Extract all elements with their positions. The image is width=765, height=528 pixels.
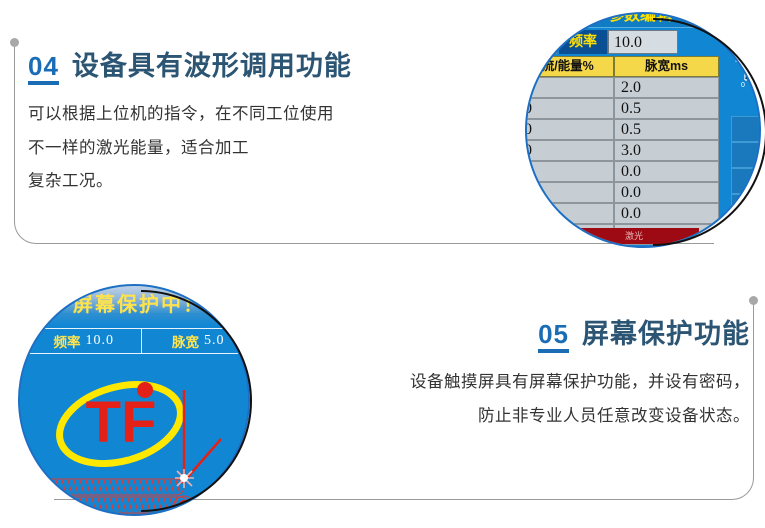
- laser-status-bar: 激光: [569, 228, 699, 244]
- cell-current[interactable]: 0: [527, 161, 614, 182]
- status-pulsewidth-value: 5.0: [204, 333, 225, 349]
- cell-current[interactable]: 30: [527, 119, 614, 140]
- status-frequency-value: 10.0: [86, 333, 115, 349]
- panel-1-heading: 04 设备具有波形调用功能: [28, 44, 458, 85]
- panel-1-body-line-3: 复杂工况。: [28, 171, 458, 192]
- cell-pulsewidth[interactable]: 3.0: [614, 140, 719, 161]
- waveform-ytick-100: 100: [731, 42, 743, 49]
- table-row[interactable]: 70 0.5: [527, 98, 719, 119]
- parameter-editor-title: 参数编辑: [577, 14, 703, 28]
- cell-pulsewidth[interactable]: 0.5: [614, 119, 719, 140]
- table-row[interactable]: 0.0: [527, 203, 719, 224]
- panel-1-bullet-dot: [10, 38, 19, 47]
- laser-beam-diagonal: [187, 439, 221, 478]
- panel-2-title: 屏幕保护功能: [582, 312, 750, 351]
- parameter-editor-screen: 参数编辑 频率 10.0 电流/能量% 脉宽ms 70 2.0: [527, 14, 759, 246]
- cell-pulsewidth[interactable]: 0.0: [614, 161, 719, 182]
- frequency-row: 频率 10.0: [527, 30, 719, 54]
- cell-current[interactable]: 0: [527, 182, 614, 203]
- screensaver-status-row: 频率 10.0 脉宽 5.0: [26, 328, 248, 354]
- panel-1-body-line-1: 可以根据上位机的指令，在不同工位使用: [28, 104, 458, 125]
- panel-2-number: 05: [538, 321, 569, 353]
- panel-1-body: 可以根据上位机的指令，在不同工位使用 不一样的激光能量，适合加工 复杂工况。: [28, 104, 458, 192]
- status-pulsewidth-label: 脉宽: [172, 331, 199, 351]
- waveform-ytick-0: 0: [741, 82, 745, 89]
- cell-pulsewidth[interactable]: 2.0: [614, 77, 719, 98]
- parameter-table: 电流/能量% 脉宽ms 70 2.0 70 0.5 30 0.5: [527, 56, 719, 245]
- coil-workpiece: [32, 479, 194, 514]
- numeric-keypad[interactable]: 1 4 7: [731, 116, 759, 220]
- table-row[interactable]: 30 0.5: [527, 119, 719, 140]
- panel-2-bullet-dot: [749, 296, 758, 305]
- keypad-key-7[interactable]: 7: [731, 168, 759, 194]
- screensaver-screen: 屏幕保护中！ 频率 10.0 脉宽 5.0: [20, 286, 248, 514]
- screensaver-logo-artwork: TF: [20, 354, 248, 514]
- frequency-blank-cell: [527, 30, 557, 54]
- cell-current[interactable]: 30: [527, 140, 614, 161]
- screensaver-message: 屏幕保护中！: [20, 288, 248, 317]
- status-frequency-label: 频率: [54, 331, 81, 351]
- cell-current[interactable]: 70: [527, 77, 614, 98]
- waveform-preview-chart: 100 50 0 5: [729, 36, 759, 90]
- cell-current[interactable]: [527, 203, 614, 224]
- panel-2-body-line-1: 设备触摸屏具有屏幕保护功能，并设有密码，: [300, 372, 750, 393]
- device-screenshot-1: 参数编辑 频率 10.0 电流/能量% 脉宽ms 70 2.0: [527, 14, 759, 246]
- cell-pulsewidth[interactable]: 0.0: [614, 182, 719, 203]
- panel-1-title: 设备具有波形调用功能: [72, 44, 352, 83]
- status-pulsewidth: 脉宽 5.0: [142, 329, 249, 353]
- panel-2-body-line-2: 防止非专业人员任意改变设备状态。: [300, 406, 750, 427]
- cell-pulsewidth[interactable]: 0.0: [614, 203, 719, 224]
- parameter-table-header: 电流/能量% 脉宽ms: [527, 56, 719, 77]
- panel-1-number: 04: [28, 53, 59, 85]
- panel-1-text: 04 设备具有波形调用功能 可以根据上位机的指令，在不同工位使用 不一样的激光能…: [28, 44, 458, 205]
- logo-text: TF: [86, 390, 157, 455]
- keypad-key-blank[interactable]: [731, 194, 759, 220]
- panel-2-body: 设备触摸屏具有屏幕保护功能，并设有密码， 防止非专业人员任意改变设备状态。: [300, 372, 750, 426]
- waveform-ytick-50: 50: [735, 57, 743, 64]
- status-frequency: 频率 10.0: [27, 329, 142, 353]
- table-row[interactable]: 30 3.0: [527, 140, 719, 161]
- cell-current[interactable]: 70: [527, 98, 614, 119]
- cell-pulsewidth[interactable]: 0.5: [614, 98, 719, 119]
- panel-1-body-line-2: 不一样的激光能量，适合加工: [28, 138, 458, 159]
- parameter-editor-title-spare-button[interactable]: [705, 14, 757, 28]
- laser-status-label: 激光: [569, 228, 699, 244]
- column-header-current: 电流/能量%: [527, 56, 614, 77]
- panel-2-heading: 05 屏幕保护功能: [300, 312, 750, 353]
- spark-core: [180, 474, 188, 482]
- table-row[interactable]: 70 2.0: [527, 77, 719, 98]
- table-row[interactable]: 0 0.0: [527, 182, 719, 203]
- keypad-key-1[interactable]: 1: [731, 116, 759, 142]
- device-screenshot-2: 屏幕保护中！ 频率 10.0 脉宽 5.0: [20, 286, 248, 514]
- infographic-page: 04 设备具有波形调用功能 可以根据上位机的指令，在不同工位使用 不一样的激光能…: [0, 0, 765, 528]
- keypad-key-4[interactable]: 4: [731, 142, 759, 168]
- column-header-pulsewidth: 脉宽ms: [614, 56, 719, 77]
- frequency-label: 频率: [559, 30, 607, 54]
- table-row[interactable]: 0 0.0: [527, 161, 719, 182]
- frequency-value[interactable]: 10.0: [608, 30, 678, 54]
- panel-2-text: 05 屏幕保护功能 设备触摸屏具有屏幕保护功能，并设有密码， 防止非专业人员任意…: [300, 312, 750, 439]
